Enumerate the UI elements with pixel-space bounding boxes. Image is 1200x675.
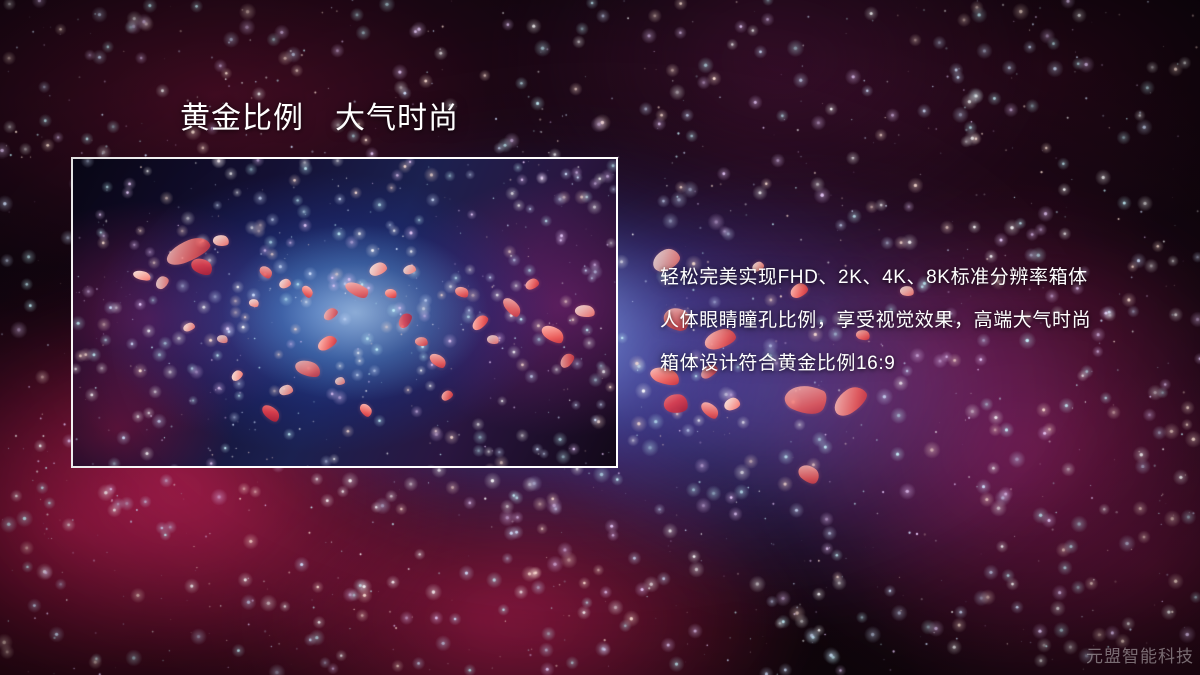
feature-description: 轻松完美实现FHD、2K、4K、8K标准分辨率箱体 人体眼睛瞳孔比例，享受视觉效…: [660, 256, 1190, 385]
company-watermark: 元盟智能科技: [1086, 642, 1194, 667]
framed-photo: [71, 157, 618, 468]
feature-line-3: 箱体设计符合黄金比例16:9: [660, 342, 1190, 385]
feature-line-2: 人体眼睛瞳孔比例，享受视觉效果，高端大气时尚: [660, 299, 1190, 342]
feature-line-1: 轻松完美实现FHD、2K、4K、8K标准分辨率箱体: [660, 256, 1190, 299]
slide-canvas: 黄金比例 大气时尚 轻松完美实现FHD、2K、4K、8K标准分辨率箱体 人体眼睛…: [0, 0, 1200, 675]
page-title: 黄金比例 大气时尚: [180, 101, 459, 137]
photo-starfield: [73, 159, 618, 468]
